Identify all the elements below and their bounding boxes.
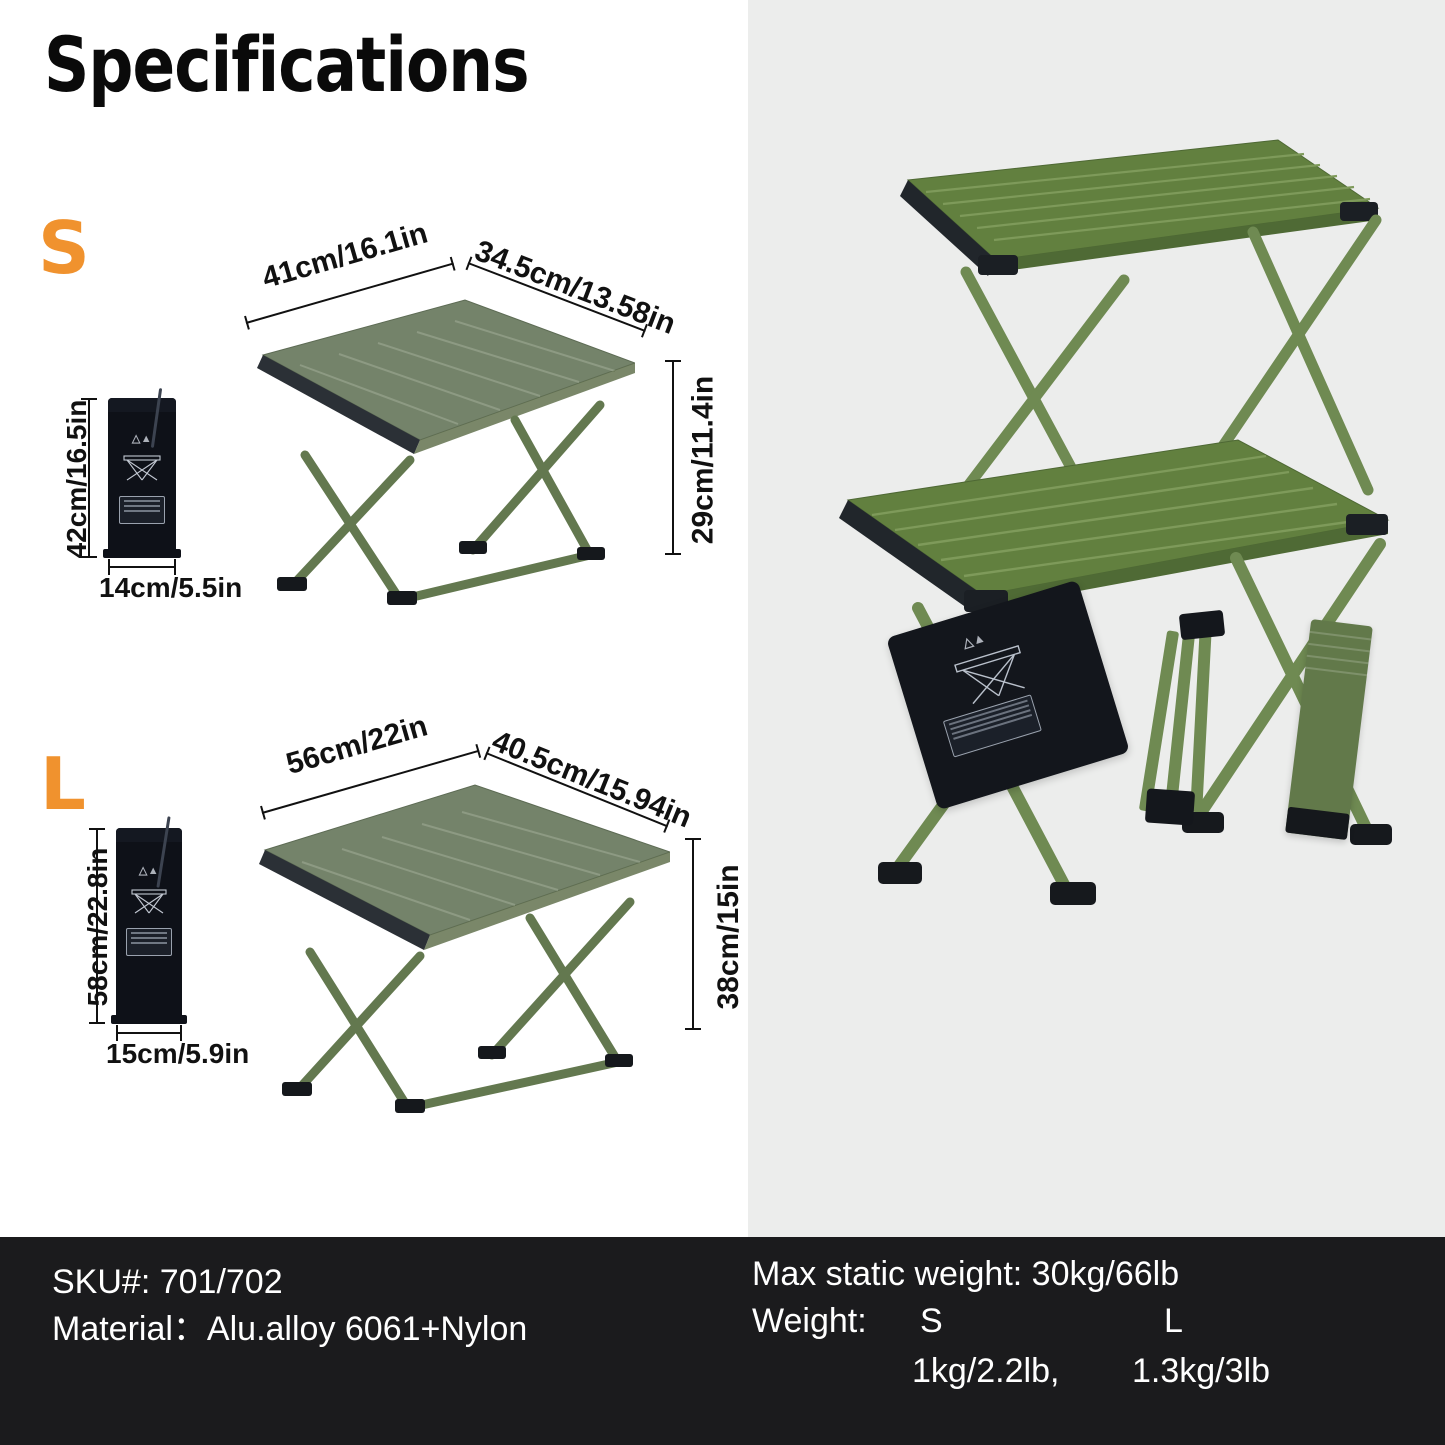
table-height-label-l: 38cm/15in <box>712 841 746 1033</box>
max-static-weight-line: Max static weight: 30kg/66lb <box>752 1251 1179 1298</box>
footer-right-column: Max static weight: 30kg/66lb Weight: S L… <box>752 1251 1179 1398</box>
accessory-leg-clamp-bottom <box>1145 788 1195 825</box>
bag-height-label-s: 42cm/16.5in <box>61 399 93 559</box>
bag-brand-logo-l: △▲ <box>139 864 159 877</box>
bag-cord-l <box>156 816 170 888</box>
specifications-infographic: Specifications S △▲ <box>0 0 1445 1445</box>
page-title: Specifications <box>44 27 529 103</box>
table-height-label-s: 29cm/11.4in <box>687 363 721 558</box>
weight-value-s: 1kg/2.2lb, <box>912 1348 1059 1395</box>
footer-spec-bar: SKU#: 701/702 Material：Alu.alloy 6061+Ny… <box>0 1237 1445 1445</box>
weight-label: Weight: <box>752 1298 867 1345</box>
bag-brand-logo-s: △▲ <box>132 432 152 445</box>
bag-width-label-l: 15cm/5.9in <box>106 1038 249 1070</box>
accessory-bag-logo: △▲ <box>961 630 988 652</box>
table-top-s <box>215 255 635 655</box>
bag-drawstring-top-s <box>108 398 176 412</box>
weight-value-l: 1.3kg/3lb <box>1132 1348 1270 1395</box>
bag-spec-label-l <box>126 928 172 956</box>
material-line: Material：Alu.alloy 6061+Nylon <box>52 1306 527 1353</box>
left-diagram-panel: Specifications S △▲ <box>0 0 748 1237</box>
bag-width-rule-l <box>116 1032 182 1034</box>
table-height-rule-l <box>692 838 694 1030</box>
bag-width-rule-s <box>108 566 176 568</box>
size-letter-l: L <box>40 748 86 820</box>
footer-left-column: SKU#: 701/702 Material：Alu.alloy 6061+Ny… <box>52 1259 527 1353</box>
bag-drawstring-top-l <box>116 828 182 842</box>
weight-column-l: L <box>1164 1298 1183 1345</box>
bag-table-graphic-l <box>126 886 172 918</box>
weight-column-s: S <box>920 1298 943 1345</box>
bag-height-label-l: 58cm/22.8in <box>82 829 114 1025</box>
weight-values-row: 1kg/2.2lb, 1.3kg/3lb <box>752 1348 1179 1398</box>
product-photo-panel: △▲ <box>748 0 1445 1237</box>
weight-header-row: Weight: S L <box>752 1298 1179 1348</box>
bag-spec-label-s <box>119 496 165 524</box>
size-letter-s: S <box>38 212 90 284</box>
accessory-leg-clamp-top <box>1179 610 1225 640</box>
table-figure-s <box>215 255 635 655</box>
bag-table-graphic-s <box>118 452 166 486</box>
table-height-rule-s <box>672 360 674 555</box>
sku-line: SKU#: 701/702 <box>52 1259 527 1306</box>
